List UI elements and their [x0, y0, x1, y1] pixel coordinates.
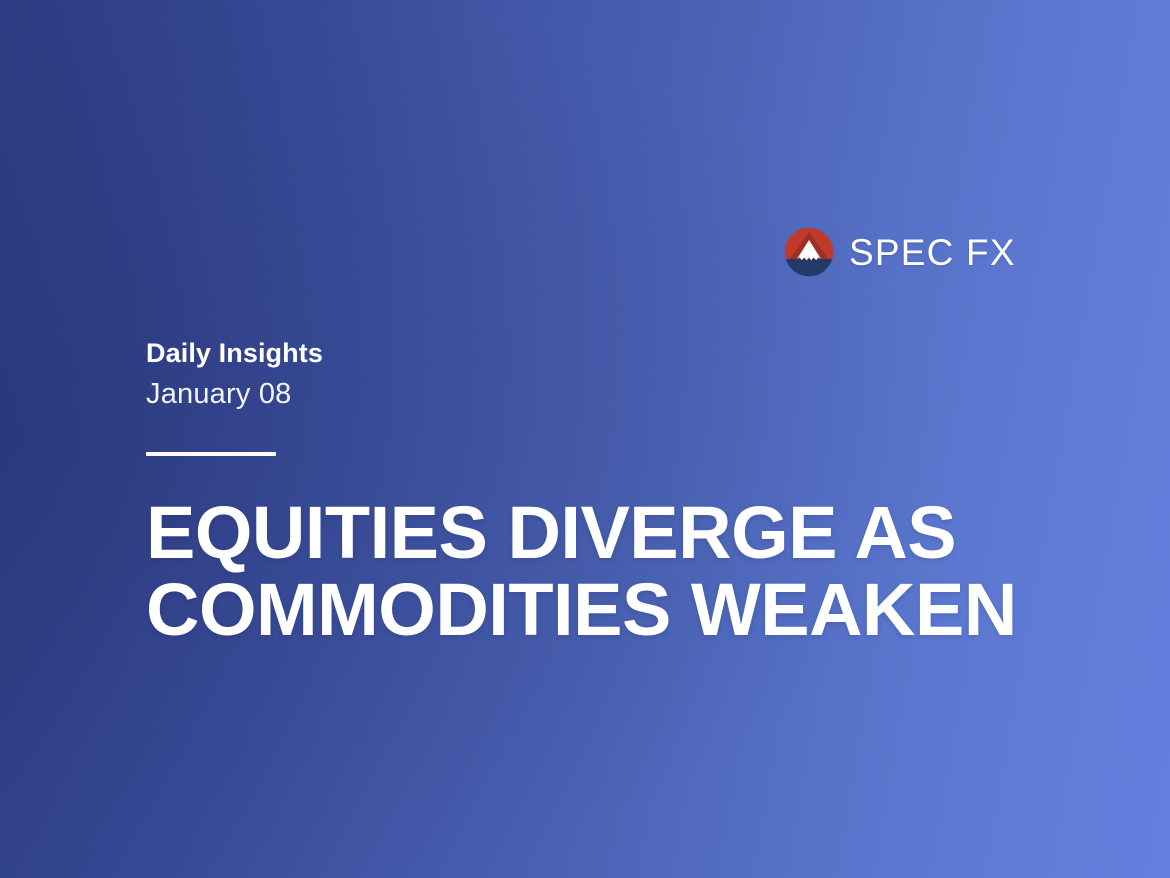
page-title: EQUITIES DIVERGE AS COMMODITIES WEAKEN	[146, 495, 1016, 649]
brand-wordmark: SPEC FX	[849, 234, 1016, 271]
kicker-label: Daily Insights	[146, 338, 1046, 368]
headline-line-1: EQUITIES DIVERGE AS	[146, 495, 1016, 572]
headline-line-2: COMMODITIES WEAKEN	[146, 572, 1016, 649]
presentation-slide: SPEC FX Daily Insights January 08 EQUITI…	[0, 0, 1170, 878]
brand-logo-lockup[interactable]: SPEC FX	[783, 226, 1016, 278]
mountain-circle-icon	[783, 226, 835, 278]
slide-content: Daily Insights January 08 EQUITIES DIVER…	[146, 338, 1046, 649]
slide-date: January 08	[146, 378, 1046, 410]
divider-rule	[146, 452, 276, 456]
